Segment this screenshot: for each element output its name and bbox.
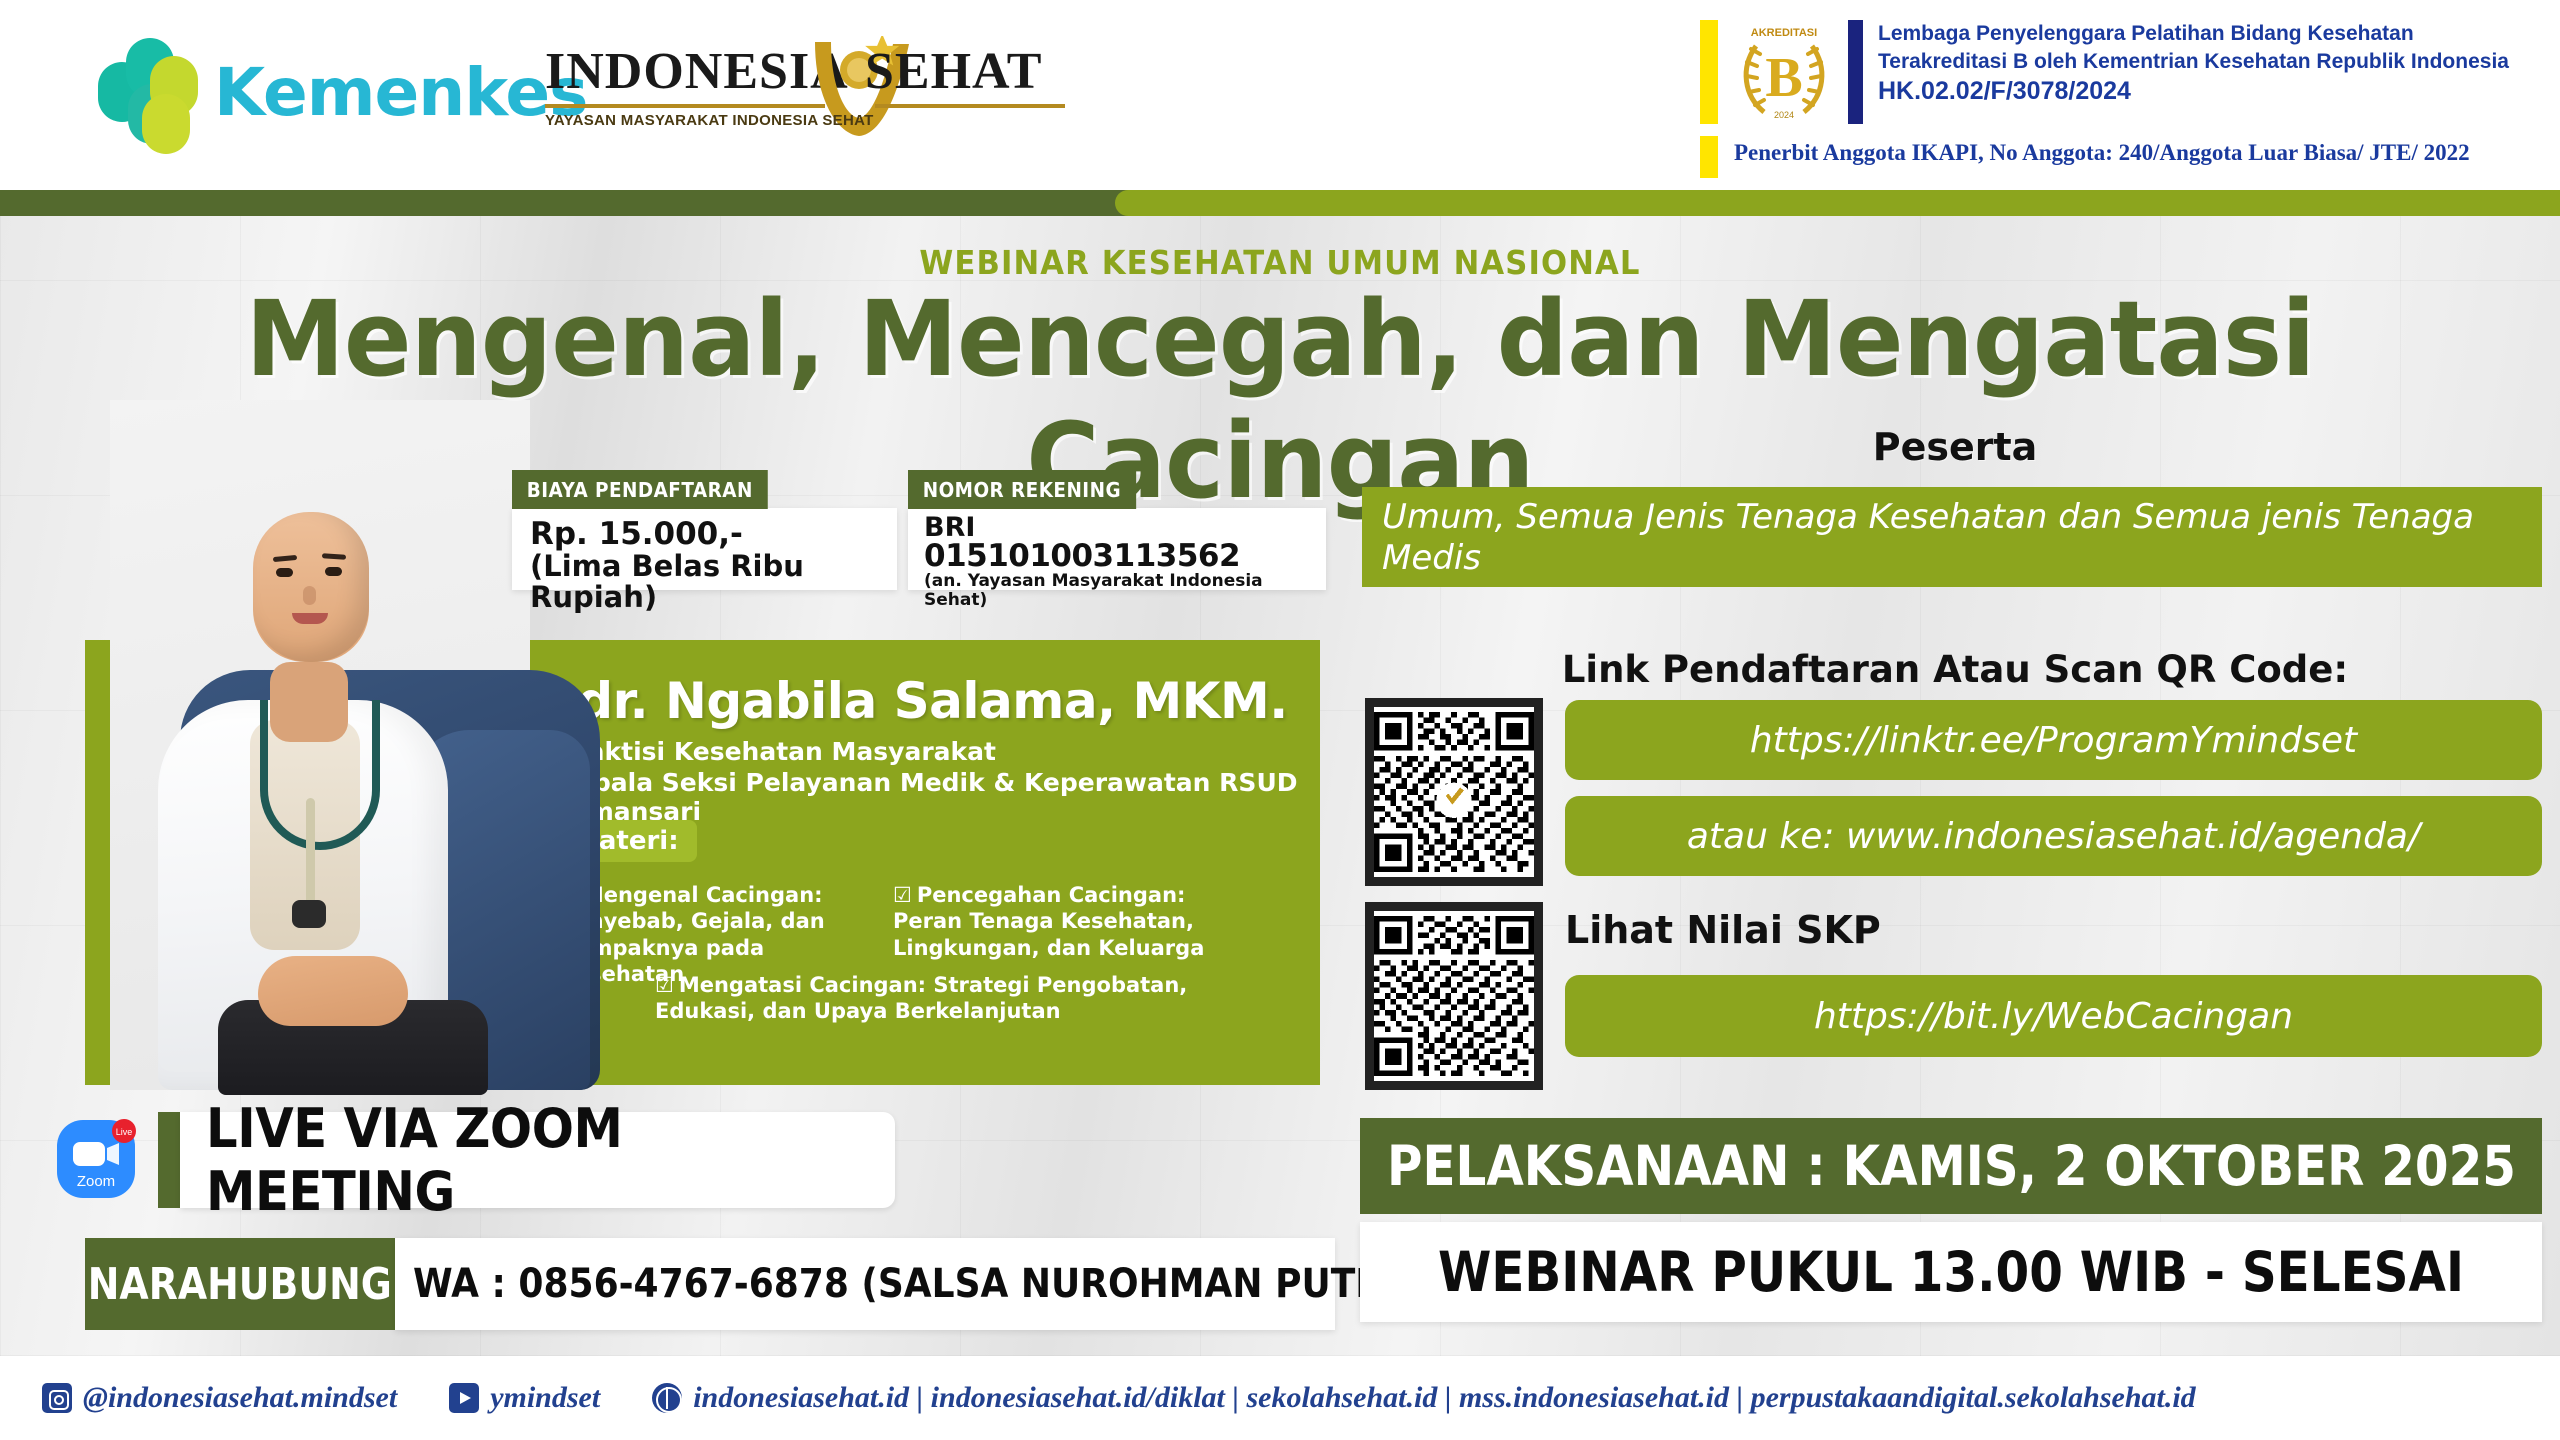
zoom-logo-icon: Zoom Live: [55, 1118, 137, 1200]
fee-amount: Rp. 15.000,-: [530, 518, 879, 551]
ikapi-membership: Penerbit Anggota IKAPI, No Anggota: 240/…: [1734, 140, 2470, 166]
foundation-subtitle: YAYASAN MASYARAKAT INDONESIA SEHAT: [545, 112, 874, 129]
registration-title: Link Pendaftaran Atau Scan QR Code:: [1360, 648, 2550, 691]
logo-rule-left: [545, 104, 825, 108]
logo-rule-right: [875, 104, 1065, 108]
check-circle-icon: ☑: [893, 883, 912, 907]
platform-card: LIVE VIA ZOOM MEETING: [180, 1112, 895, 1208]
registration-link-secondary[interactable]: atau ke: www.indonesiasehat.id/agenda/: [1565, 796, 2542, 876]
participants-title: Peserta: [1360, 425, 2550, 469]
fee-amount-words: (Lima Belas Ribu Rupiah): [530, 551, 879, 615]
accreditation-yellow-bar: [1700, 20, 1718, 124]
account-tag-label: NOMOR REKENING: [908, 470, 1136, 509]
participants-box: Umum, Semua Jenis Tenaga Kesehatan dan S…: [1362, 487, 2542, 587]
account-card: BRI 015101003113562 (an. Yayasan Masyara…: [908, 508, 1326, 590]
contact-card: WA : 0856-4767-6878 (SALSA NUROHMAN PUTR…: [395, 1238, 1335, 1330]
divider-light-segment: [1115, 190, 2560, 216]
globe-icon: [652, 1383, 682, 1413]
webinar-kicker: WEBINAR KESEHATAN UMUM NASIONAL: [90, 243, 2471, 282]
page-title: Mengenal, Mencegah, dan Mengatasi Cacing…: [51, 278, 2509, 522]
green-divider-bar: [0, 190, 2560, 216]
kemenkes-wordmark: Kemenkes: [214, 54, 587, 131]
schedule-time: WEBINAR PUKUL 13.00 WIB - SELESAI: [1438, 1240, 2464, 1304]
stethoscope-icon: [260, 700, 380, 850]
skp-qr-code[interactable]: [1365, 902, 1543, 1090]
participants-description: Umum, Semua Jenis Tenaga Kesehatan dan S…: [1382, 497, 2522, 580]
skp-link[interactable]: https://bit.ly/WebCacingan: [1565, 975, 2542, 1057]
sehat-wordmark: SEHAT: [865, 42, 1042, 101]
youtube-icon: [449, 1383, 479, 1413]
ikapi-yellow-bar: [1700, 136, 1718, 178]
bank-name: BRI: [924, 514, 1310, 541]
contact-detail: WA : 0856-4767-6878 (SALSA NUROHMAN PUTR…: [413, 1261, 1413, 1307]
account-number: 015101003113562: [924, 541, 1310, 572]
instagram-handle[interactable]: @indonesiasehat.mindset: [42, 1381, 397, 1415]
accreditation-seal-icon: AKREDITASI B 2024: [1730, 20, 1838, 124]
registration-link-primary[interactable]: https://linktr.ee/ProgramYmindset: [1565, 700, 2542, 780]
poster-header: Kemenkes INDONESIA SEHAT YAYASAN MASYARA…: [0, 0, 2560, 190]
youtube-handle[interactable]: ymindset: [449, 1381, 600, 1415]
zoom-accent-bar: [158, 1112, 180, 1208]
platform-label: LIVE VIA ZOOM MEETING: [206, 1097, 840, 1223]
hands-shape: [258, 956, 408, 1026]
social-footer: @indonesiasehat.mindset ymindset indones…: [0, 1356, 2560, 1440]
speaker-name: dr. Ngabila Salama, MKM.: [545, 672, 1320, 730]
svg-text:B: B: [1765, 47, 1802, 109]
svg-text:AKREDITASI: AKREDITASI: [1751, 27, 1817, 39]
speaker-role-secondary: Kepala Seksi Pelayanan Medik & Keperawat…: [557, 768, 1320, 826]
contact-tag: NARAHUBUNG: [85, 1238, 395, 1330]
topic-text: Mengatasi Cacingan: Strategi Pengobatan,…: [655, 973, 1187, 1023]
accreditation-block: AKREDITASI B 2024 Lembaga Penyelenggara …: [1700, 14, 2540, 174]
schedule-date-bar: PELAKSANAAN : KAMIS, 2 OKTOBER 2025: [1360, 1118, 2542, 1214]
speaker-role-primary: Praktisi Kesehatan Masyarakat: [557, 737, 996, 766]
accreditation-line1: Lembaga Penyelenggara Pelatihan Bidang K…: [1878, 20, 2509, 48]
svg-text:Zoom: Zoom: [77, 1173, 115, 1190]
check-circle-icon: ☑: [655, 973, 674, 997]
kemenkes-emblem-icon: [98, 38, 196, 146]
accreditation-blue-bar: [1848, 20, 1863, 124]
topic-item: ☑Pencegahan Cacingan: Peran Tenaga Keseh…: [893, 882, 1223, 961]
website-list[interactable]: indonesiasehat.id | indonesiasehat.id/di…: [652, 1381, 2196, 1415]
indonesia-sehat-logo: INDONESIA SEHAT YAYASAN MASYARAKAT INDON…: [545, 26, 1065, 146]
webinar-poster: Kemenkes INDONESIA SEHAT YAYASAN MASYARA…: [0, 0, 2560, 1440]
schedule-date: PELAKSANAAN : KAMIS, 2 OKTOBER 2025: [1387, 1134, 2516, 1198]
instagram-icon: [42, 1383, 72, 1413]
divider-dark-segment: [0, 190, 1160, 216]
svg-text:Live: Live: [116, 1127, 133, 1137]
accreditation-number: HK.02.02/F/3078/2024: [1878, 75, 2509, 108]
skp-title: Lihat Nilai SKP: [1565, 908, 1881, 952]
svg-text:2024: 2024: [1774, 110, 1794, 120]
schedule-time-bar: WEBINAR PUKUL 13.00 WIB - SELESAI: [1360, 1222, 2542, 1322]
topic-text: Pencegahan Cacingan: Peran Tenaga Keseha…: [893, 883, 1204, 960]
topic-item: ☑Mengatasi Cacingan: Strategi Pengobatan…: [655, 972, 1215, 1025]
account-holder: (an. Yayasan Masyarakat Indonesia Sehat): [924, 572, 1310, 609]
fee-card: Rp. 15.000,- (Lima Belas Ribu Rupiah): [512, 508, 897, 590]
registration-qr-code[interactable]: [1365, 698, 1543, 886]
accreditation-text: Lembaga Penyelenggara Pelatihan Bidang K…: [1878, 20, 2509, 108]
kemenkes-logo: Kemenkes: [98, 38, 587, 146]
accreditation-line2: Terakreditasi B oleh Kementrian Kesehata…: [1878, 48, 2509, 76]
fee-tag-label: BIAYA PENDAFTARAN: [512, 470, 768, 509]
